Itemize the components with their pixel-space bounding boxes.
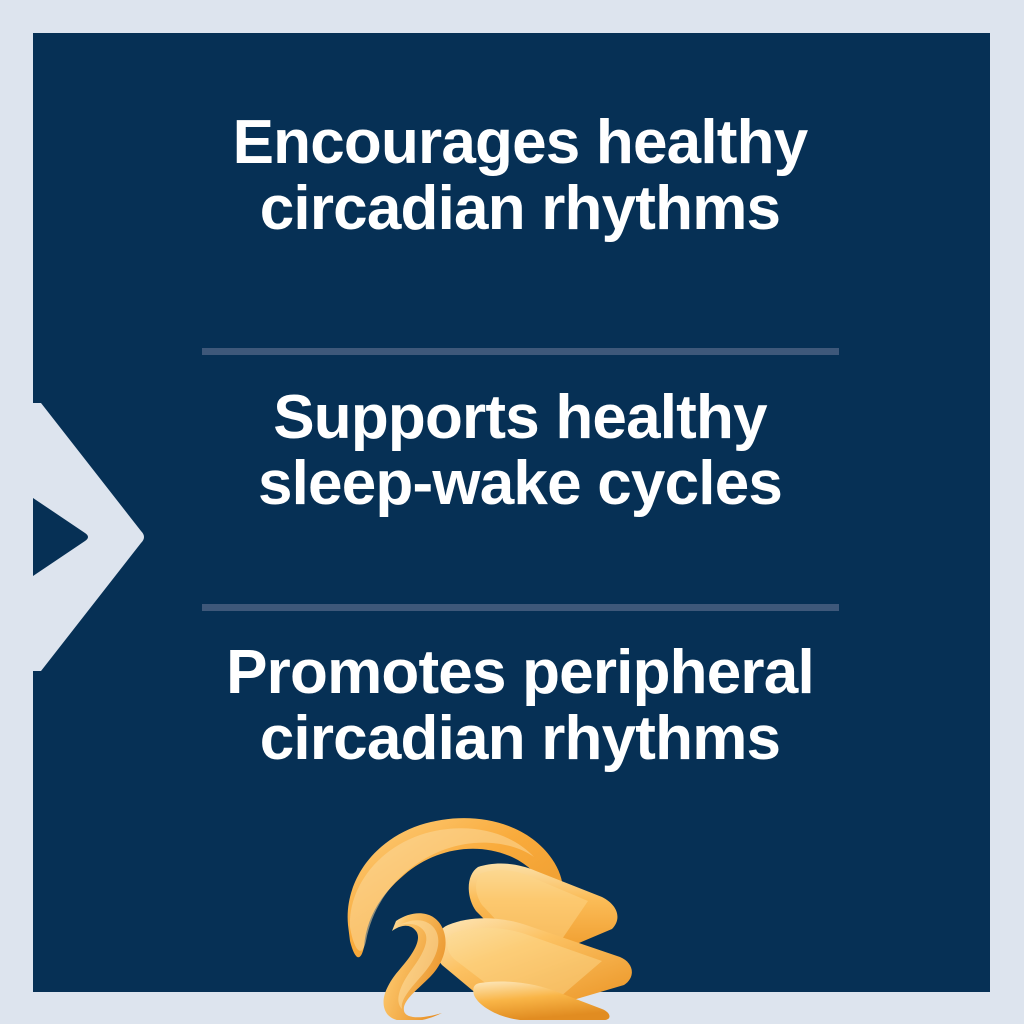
benefit-item-3: Promotes peripheral circadian rhythms [120, 640, 920, 771]
benefits-panel-page: Encourages healthy circadian rhythms Sup… [0, 0, 1024, 1024]
benefit-item-1: Encourages healthy circadian rhythms [120, 110, 920, 241]
benefit-item-2: Supports healthy sleep-wake cycles [120, 385, 920, 516]
benefit-list: Encourages healthy circadian rhythms Sup… [0, 0, 1024, 1024]
